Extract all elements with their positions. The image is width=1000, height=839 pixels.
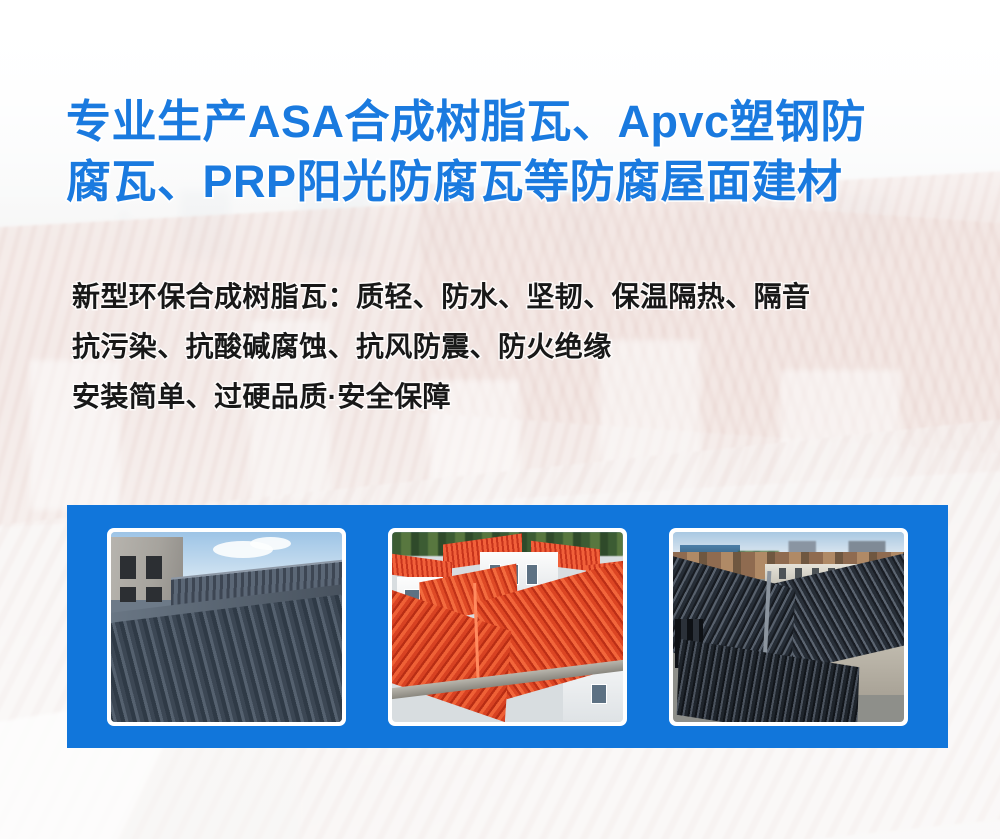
photo3-window [779,568,786,579]
photo1-window [146,556,162,579]
feature-line-3: 安装简单、过硬品质·安全保障 [72,372,952,422]
feature-list: 新型环保合成树脂瓦：质轻、防水、坚韧、保温隔热、隔音 抗污染、抗酸碱腐蚀、抗风防… [72,272,952,422]
photo-frame-3 [669,528,908,726]
photo2-window [591,684,607,705]
photo-frame-2 [388,528,627,726]
photo1-window [146,587,162,602]
feature-line-2: 抗污染、抗酸碱腐蚀、抗风防震、防火绝缘 [72,322,952,372]
photo-frame-1 [107,528,346,726]
photo2-window [526,564,538,585]
feature-line-1: 新型环保合成树脂瓦：质轻、防水、坚韧、保温隔热、隔音 [72,272,952,322]
photo1-window [120,587,136,602]
photo-gallery-panel [67,505,948,748]
product-banner: 专业生产ASA合成树脂瓦、Apvc塑钢防 腐瓦、PRP阳光防腐瓦等防腐屋面建材 … [0,0,1000,839]
photo-red-resin-tile-roof [392,532,623,722]
photo-charcoal-grey-resin-tile-roof [111,532,342,722]
page-title: 专业生产ASA合成树脂瓦、Apvc塑钢防 腐瓦、PRP阳光防腐瓦等防腐屋面建材 [66,92,956,212]
photo1-window [120,556,136,579]
photo-black-resin-tile-roof [673,532,904,722]
